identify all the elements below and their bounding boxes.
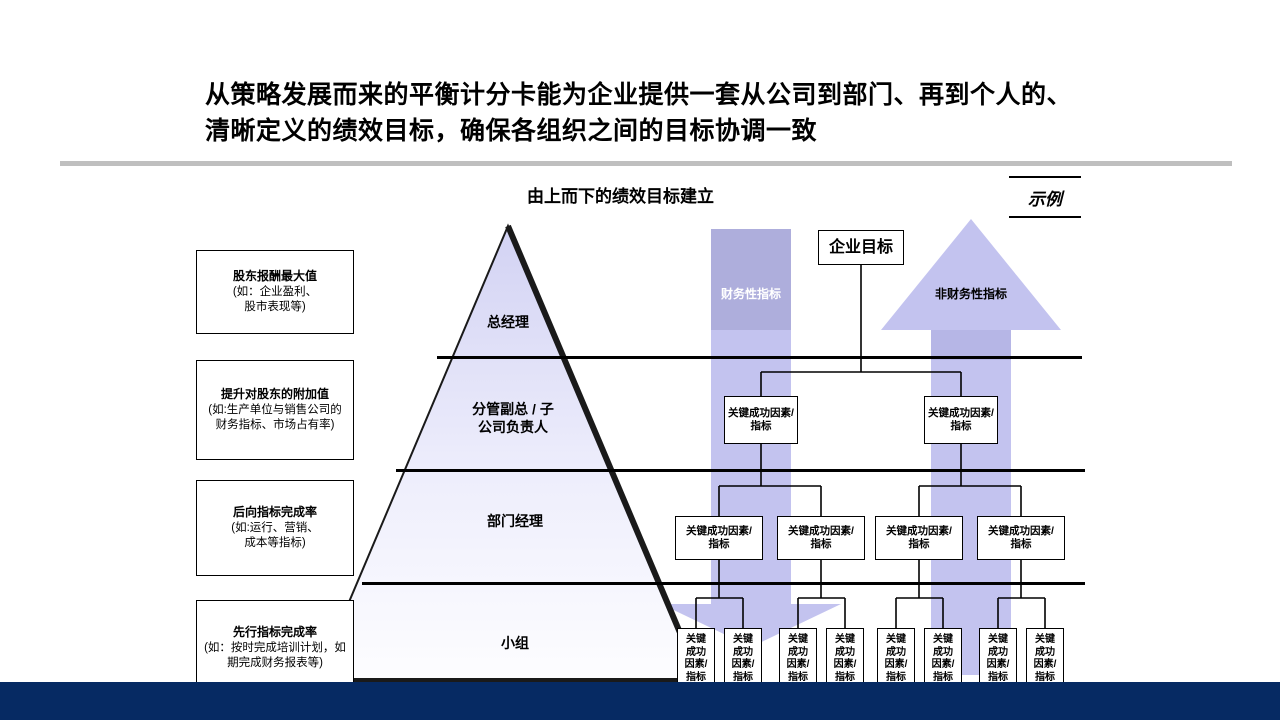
info-box-1-head: 股东报酬最大值 bbox=[233, 268, 317, 284]
tree-node-level2-1: 关键成功因素/ 指标 bbox=[724, 396, 798, 444]
tree-node-leaf-4: 关键 成功 因素/ 指标 bbox=[826, 628, 864, 690]
info-box-1-sub: (如：企业盈利、 股市表现等) bbox=[233, 285, 317, 316]
slide-root: 从策略发展而来的平衡计分卡能为企业提供一套从公司到部门、再到个人的、清晰定义的绩… bbox=[0, 0, 1280, 720]
info-box-2-head: 提升对股东的附加值 bbox=[221, 386, 329, 402]
tree-node-leaf-5: 关键 成功 因素/ 指标 bbox=[877, 628, 915, 690]
org-pyramid bbox=[300, 218, 720, 688]
tier-divider-2 bbox=[396, 469, 1085, 472]
tree-node-level3-2: 关键成功因素/ 指标 bbox=[777, 516, 865, 560]
footer-band bbox=[0, 682, 1280, 720]
info-box-3: 后向指标完成率 (如:运行、营销、 成本等指标) bbox=[196, 480, 354, 576]
pyramid-level-1-label: 总经理 bbox=[448, 313, 568, 331]
pyramid-level-2-label: 分管副总 / 子 公司负责人 bbox=[438, 400, 588, 436]
info-box-4-sub: (如：按时完成培训计划，如期完成财务报表等) bbox=[203, 641, 347, 672]
tree-node-leaf-7: 关键 成功 因素/ 指标 bbox=[979, 628, 1017, 690]
tier-divider-1 bbox=[437, 356, 1082, 359]
financial-arrow-label: 财务性指标 bbox=[711, 285, 791, 302]
tree-node-leaf-1: 关键 成功 因素/ 指标 bbox=[677, 628, 715, 690]
info-box-1: 股东报酬最大值 (如：企业盈利、 股市表现等) bbox=[196, 250, 354, 334]
tree-node-root: 企业目标 bbox=[818, 230, 904, 265]
tree-node-level3-4: 关键成功因素/ 指标 bbox=[977, 516, 1065, 560]
tree-node-level3-1: 关键成功因素/ 指标 bbox=[675, 516, 763, 560]
info-box-3-sub: (如:运行、营销、 成本等指标) bbox=[231, 521, 319, 552]
tier-divider-3 bbox=[362, 582, 1085, 585]
info-box-3-head: 后向指标完成率 bbox=[233, 504, 317, 520]
tree-node-level2-2: 关键成功因素/ 指标 bbox=[924, 396, 998, 444]
info-box-2-sub: (如:生产单位与销售公司的财务指标、市场占有率) bbox=[203, 403, 347, 434]
pyramid-level-4-label: 小组 bbox=[440, 634, 590, 652]
info-box-2: 提升对股东的附加值 (如:生产单位与销售公司的财务指标、市场占有率) bbox=[196, 360, 354, 460]
nonfinancial-arrow-label: 非财务性指标 bbox=[916, 285, 1026, 302]
tree-node-leaf-6: 关键 成功 因素/ 指标 bbox=[924, 628, 962, 690]
tree-node-leaf-3: 关键 成功 因素/ 指标 bbox=[779, 628, 817, 690]
tree-node-leaf-8: 关键 成功 因素/ 指标 bbox=[1026, 628, 1064, 690]
pyramid-level-3-label: 部门经理 bbox=[440, 512, 590, 530]
tree-node-level3-3: 关键成功因素/ 指标 bbox=[875, 516, 963, 560]
info-box-4-head: 先行指标完成率 bbox=[233, 624, 317, 640]
tree-node-leaf-2: 关键 成功 因素/ 指标 bbox=[724, 628, 762, 690]
